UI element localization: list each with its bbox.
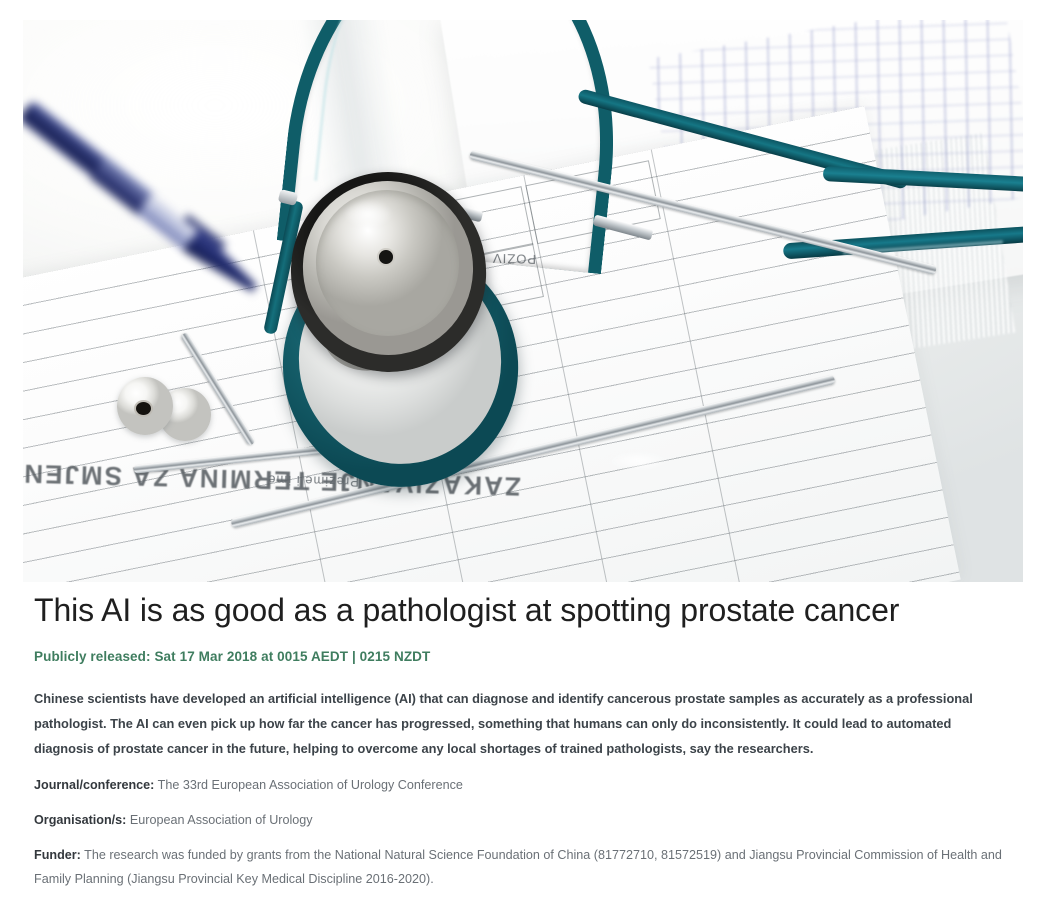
specular-highlight [593, 447, 683, 475]
meta-funder: Funder: The research was funded by grant… [34, 844, 1009, 891]
meta-label-funder: Funder: [34, 848, 81, 862]
meta-organisation: Organisation/s: European Association of … [34, 809, 1009, 832]
photo-composition: ZAKAZIVANJE TERMINA ZA SMJENA POZIV Prez… [23, 20, 1023, 582]
eartip-bore [136, 402, 151, 415]
meta-journal-conference: Journal/conference: The 33rd European As… [34, 774, 1009, 797]
meta-value-journal: The 33rd European Association of Urology… [158, 778, 463, 792]
chestpiece-bore [379, 250, 393, 263]
page-title: This AI is as good as a pathologist at s… [34, 592, 1016, 630]
article-summary: Chinese scientists have developed an art… [34, 687, 1009, 762]
publish-date: Publicly released: Sat 17 Mar 2018 at 00… [34, 649, 1016, 664]
meta-value-funder: The research was funded by grants from t… [34, 848, 1002, 885]
specular-highlight [333, 194, 403, 233]
article-page: ZAKAZIVANJE TERMINA ZA SMJENA POZIV Prez… [0, 0, 1046, 902]
meta-label-organisation: Organisation/s: [34, 813, 126, 827]
meta-label-journal: Journal/conference: [34, 778, 154, 792]
article-content: This AI is as good as a pathologist at s… [34, 592, 1016, 891]
meta-value-organisation: European Association of Urology [130, 813, 313, 827]
hero-image: ZAKAZIVANJE TERMINA ZA SMJENA POZIV Prez… [23, 20, 1023, 582]
